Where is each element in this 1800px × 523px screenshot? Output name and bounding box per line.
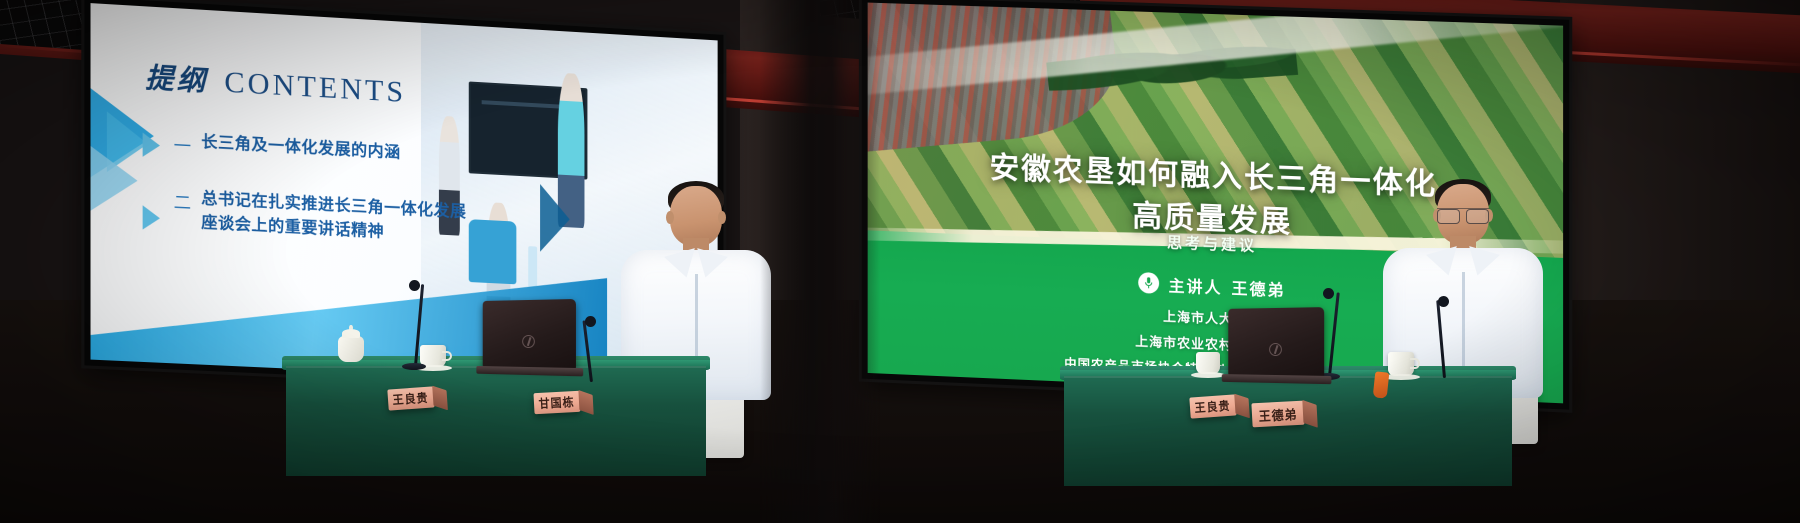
nameplate-left-1: 王良贵	[387, 386, 434, 410]
slide-item-1-text: 长三角及一体化发展的内涵	[201, 130, 400, 165]
slide-item-2-num: 二	[174, 186, 191, 214]
photo-bottle	[528, 246, 537, 288]
photo-treeline	[1044, 23, 1298, 92]
microphone-left-base	[402, 363, 426, 370]
nameplate-left-1-text: 王良贵	[392, 389, 429, 408]
microphone-right-2-stem	[1436, 300, 1446, 378]
nameplate-right-2-text: 王德弟	[1258, 404, 1298, 425]
microphone-right-2-head	[1438, 296, 1449, 307]
nameplate-right-2: 王德弟	[1251, 401, 1304, 428]
eyeglasses-icon	[1437, 208, 1489, 221]
photo-chair	[469, 219, 517, 285]
mug-right	[1388, 352, 1414, 376]
left-speaker-ear-l	[666, 211, 674, 224]
left-speaker-table	[286, 366, 706, 476]
microphone-left-head	[409, 280, 420, 291]
nameplate-left-2-text: 甘国栋	[539, 393, 576, 412]
right-table-skirt	[1064, 376, 1512, 486]
slide-heading-cn: 提纲	[145, 56, 208, 100]
microphone-right-head	[1323, 288, 1334, 299]
conference-hall-photo: 提纲 CONTENTS 一 长三角及一体化发展的内涵 二 总书记在扎实推进长三角…	[0, 0, 1800, 523]
laptop-left-lid	[483, 299, 576, 369]
laptop-left	[483, 299, 576, 369]
teacup-right-1-body	[1196, 352, 1220, 374]
laptop-right	[1228, 307, 1324, 377]
slide-heading: 提纲 CONTENTS	[145, 56, 406, 111]
microphone-left	[402, 284, 426, 366]
right-slide-speaker-label: 主讲人	[1169, 272, 1223, 298]
slide-bullet-marker-1	[143, 133, 160, 158]
teapot-left	[338, 336, 364, 362]
microphone-left-2-stem	[582, 320, 593, 382]
nameplate-right-1-text: 王良贵	[1194, 397, 1231, 416]
microphone-right-stem	[1328, 292, 1340, 376]
microphone-icon	[1139, 272, 1160, 294]
microphone-right-2	[1432, 300, 1454, 378]
right-speaker-collar-r	[1462, 246, 1500, 280]
laptop-right-lid	[1228, 307, 1324, 377]
nameplate-right-1: 王良贵	[1189, 394, 1236, 418]
teacup-right-1-saucer	[1191, 372, 1226, 378]
mug-left-handle	[442, 351, 452, 361]
left-table-skirt	[286, 366, 706, 476]
microphone-left-2-head	[585, 316, 596, 327]
slide-bullet-marker-2	[143, 205, 160, 230]
slide-decor-chevron	[540, 184, 570, 253]
left-speaker-ear-r	[718, 211, 726, 224]
right-speaker-table	[1064, 376, 1512, 486]
slide-item-1: 一 长三角及一体化发展的内涵	[174, 129, 401, 168]
slide-item-1-num: 一	[174, 129, 191, 157]
right-slide-speaker-name: 王德弟	[1231, 275, 1285, 301]
teapot-left-body	[338, 336, 364, 362]
laptop-right-logo	[1269, 343, 1282, 356]
teacup-right-1	[1196, 352, 1220, 374]
laptop-left-logo	[522, 335, 535, 348]
microphone-left-stem	[414, 284, 424, 366]
slide-decor-triangle-2	[91, 146, 138, 213]
nameplate-left-2: 甘国栋	[533, 391, 580, 414]
teapot-left-lid	[342, 329, 361, 338]
left-speaker-head	[670, 186, 722, 246]
right-speaker-collar-l	[1426, 246, 1464, 280]
slide-heading-en: CONTENTS	[224, 66, 406, 110]
right-speaker-head	[1437, 184, 1489, 244]
panel-divider-shadow	[760, 0, 880, 523]
microphone-icon-glyph	[1144, 277, 1155, 290]
microphone-left-2	[580, 320, 600, 382]
